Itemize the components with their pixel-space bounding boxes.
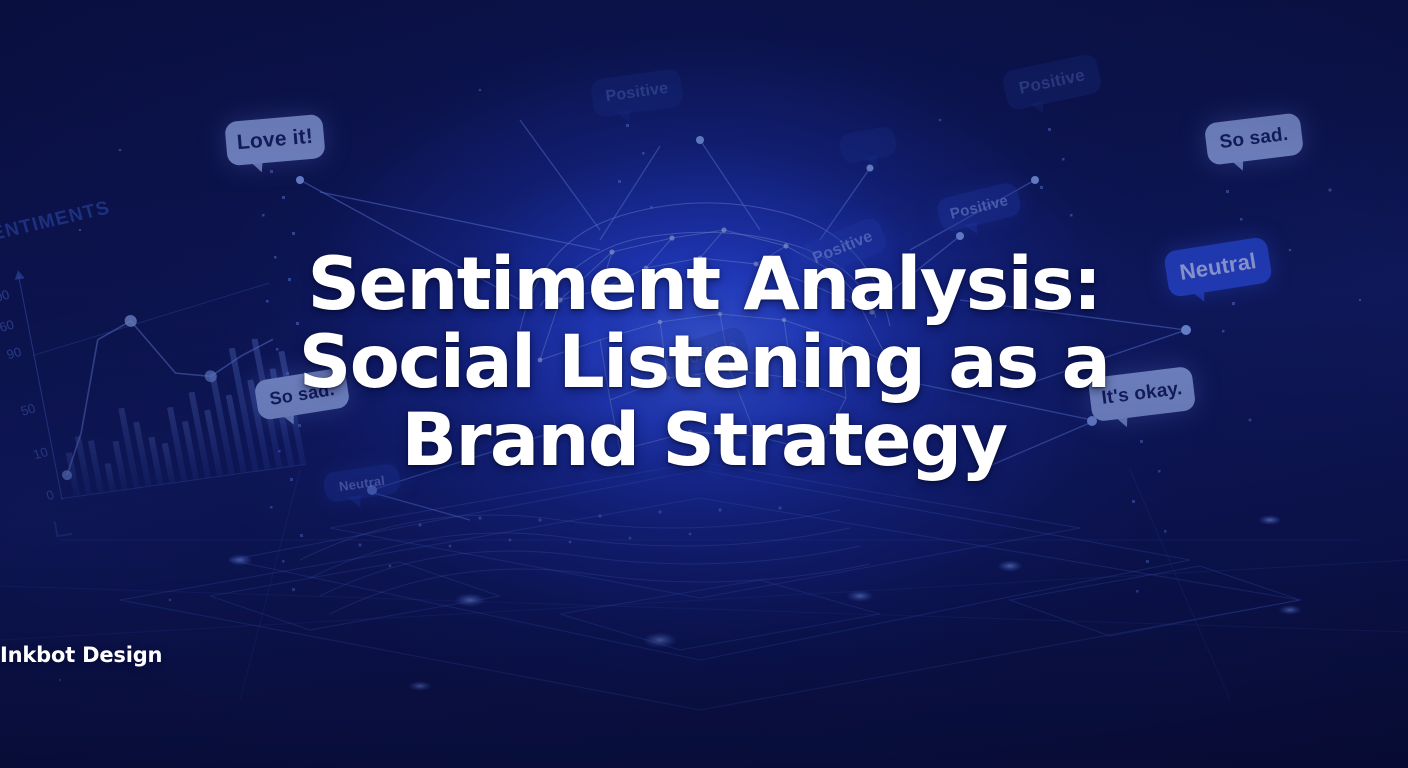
hero-banner: SENTIMENTS 100 60 90 50 10 0 [0,0,1408,768]
byline-brand: Inkbot Design [0,643,1408,667]
title-line-3: Brand Strategy [401,398,1006,483]
page-title: Sentiment Analysis: Social Listening as … [299,246,1110,480]
title-line-2: Social Listening as a [299,320,1110,405]
title-line-1: Sentiment Analysis: [308,242,1101,327]
